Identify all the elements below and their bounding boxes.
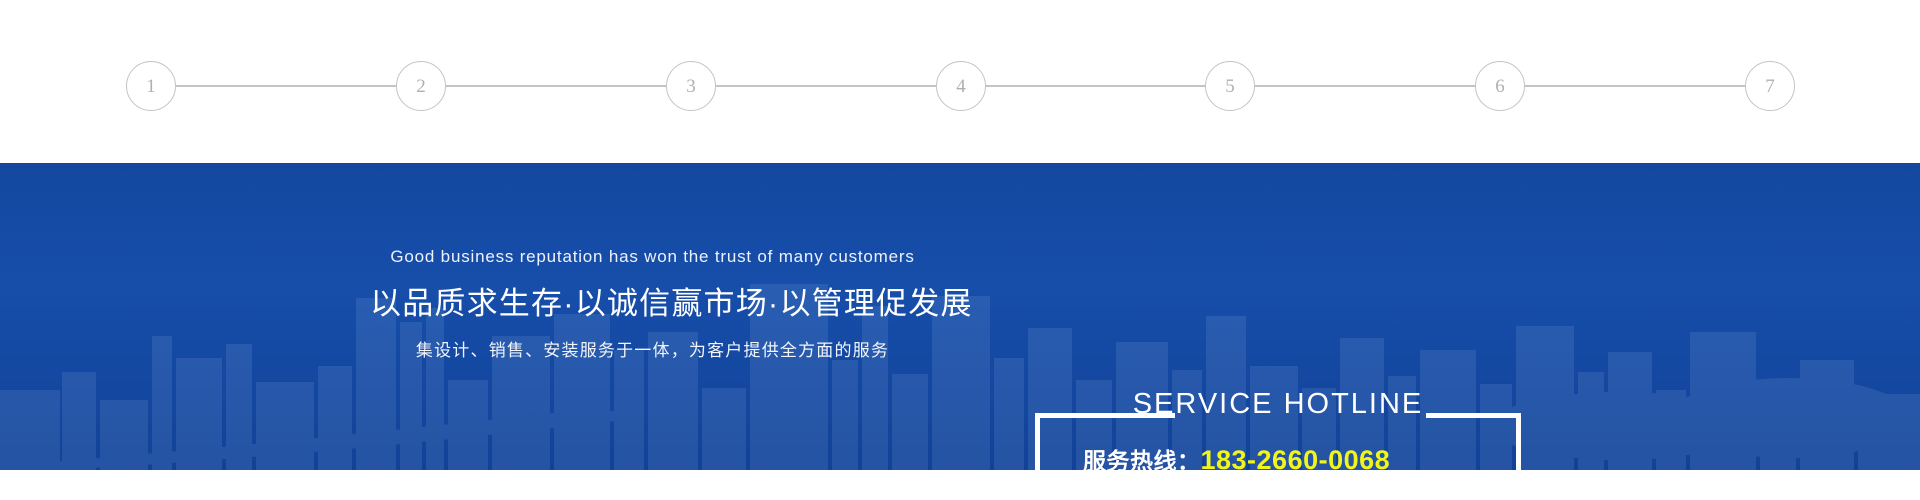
slogan-chinese-sub: 集设计、销售、安装服务于一体，为客户提供全方面的服务 [370, 340, 935, 362]
slogan-chinese-main: 以品质求生存·以诚信赢市场·以管理促发展 [370, 285, 935, 324]
step-node-7[interactable]: 7 [1745, 61, 1795, 111]
hotline-title: SERVICE HOTLINE [1035, 390, 1521, 419]
step-connector-line-3 [716, 85, 936, 87]
slogan-english: Good business reputation has won the tru… [370, 246, 935, 268]
hotline-number-primary[interactable]: 183-2660-0068 [1201, 445, 1391, 470]
step-node-2[interactable]: 2 [396, 61, 446, 111]
slogan-block: Good business reputation has won the tru… [370, 246, 935, 362]
footer-whitespace [0, 470, 1920, 500]
step-node-5[interactable]: 5 [1205, 61, 1255, 111]
step-node-2-label: 2 [416, 77, 426, 96]
hotline-numbers: 服务热线： 183-2660-0068 0551-63749777 [1035, 445, 1521, 470]
step-node-1[interactable]: 1 [126, 61, 176, 111]
step-node-6[interactable]: 6 [1475, 61, 1525, 111]
step-connector-line-2 [446, 85, 666, 87]
step-node-3[interactable]: 3 [666, 61, 716, 111]
step-connector-line-1 [176, 85, 396, 87]
step-node-6-label: 6 [1495, 77, 1505, 96]
hotline-row-primary: 服务热线： 183-2660-0068 [1035, 445, 1521, 470]
step-connector-line-6 [1525, 85, 1745, 87]
step-progress-bar: 1 2 3 4 5 6 7 [0, 0, 1920, 163]
step-connector-line-4 [986, 85, 1206, 87]
step-node-3-label: 3 [686, 77, 696, 96]
page-root: 1 2 3 4 5 6 7 [0, 0, 1920, 500]
step-node-4[interactable]: 4 [936, 61, 986, 111]
hotline-label: 服务热线： [1083, 448, 1201, 470]
step-connector-line-5 [1255, 85, 1475, 87]
promo-banner: Good business reputation has won the tru… [0, 163, 1920, 470]
step-node-4-label: 4 [956, 77, 966, 96]
service-hotline-box: SERVICE HOTLINE 服务热线： 183-2660-0068 0551… [1035, 413, 1521, 470]
step-node-7-label: 7 [1765, 77, 1775, 96]
step-node-1-label: 1 [146, 77, 156, 96]
step-node-5-label: 5 [1225, 77, 1235, 96]
